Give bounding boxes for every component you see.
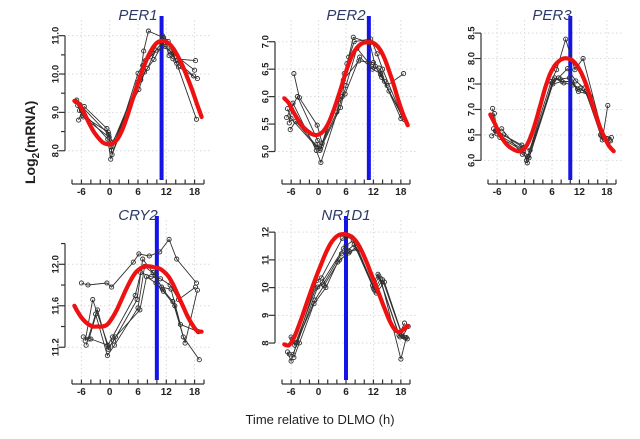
panel-per2 — [240, 4, 430, 200]
panel-cry2 — [30, 204, 220, 400]
panel-per3 — [440, 4, 635, 200]
y-axis-label-group: Log2(mRNA) — [2, 18, 28, 188]
figure-container: Log2(mRNA) Time relative to DLMO (h) 8.0… — [0, 0, 640, 439]
panel-per1 — [30, 4, 220, 200]
panel-nr1d1 — [240, 204, 430, 400]
x-axis-label: Time relative to DLMO (h) — [0, 412, 640, 427]
